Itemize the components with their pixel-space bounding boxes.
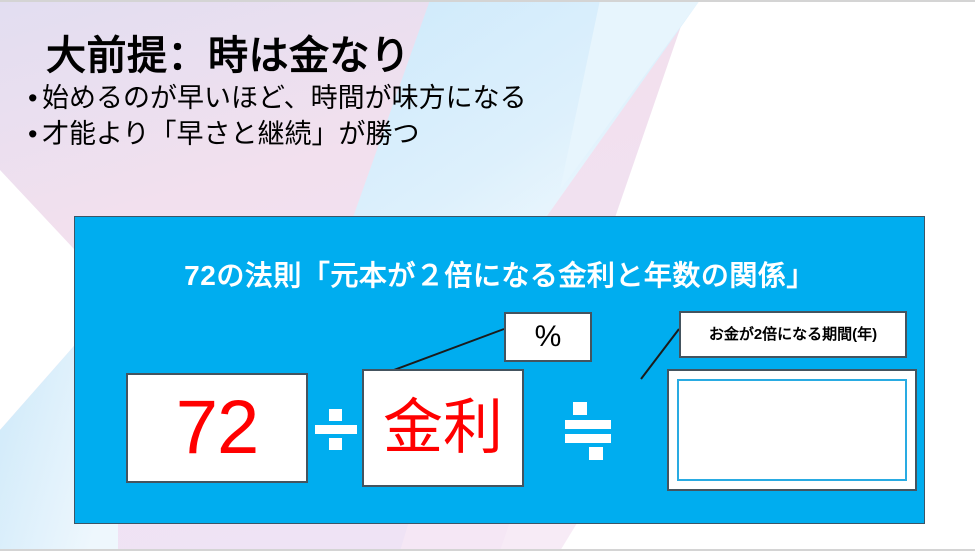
bullet-marker-icon: • (28, 117, 42, 152)
callout-percent-label: % (506, 314, 590, 360)
callout-percent: % (504, 312, 592, 362)
callout-years-label: お金が2倍になる期間(年) (681, 313, 905, 356)
panel-heading: 72の法則「元本が２倍になる金利と年数の関係」 (75, 254, 924, 294)
list-item: • 才能より「早さと継続」が勝つ (28, 117, 700, 152)
page-title: 大前提：時は金なり (46, 34, 700, 79)
divisor-box: 金利 (362, 369, 524, 487)
bullet-text: 始めるのが早いほど、時間が味方になる (42, 81, 527, 116)
numerator-box: 72 (126, 373, 308, 483)
rule-of-72-panel: 72の法則「元本が２倍になる金利と年数の関係」 % お金が2倍になる期間(年) … (74, 216, 925, 524)
headline-block: 大前提：時は金なり • 始めるのが早いほど、時間が味方になる • 才能より「早さ… (0, 34, 700, 153)
approximately-equal-operator-icon (565, 402, 611, 460)
numerator-value: 72 (128, 375, 306, 481)
slide-canvas: 大前提：時は金なり • 始めるのが早いほど、時間が味方になる • 才能より「早さ… (0, 0, 975, 551)
top-divider (0, 0, 975, 2)
result-box[interactable] (667, 369, 917, 491)
result-value[interactable] (677, 379, 907, 481)
bullet-text: 才能より「早さと継続」が勝つ (42, 117, 419, 152)
bullet-marker-icon: • (28, 81, 42, 116)
callout-years: お金が2倍になる期間(年) (679, 311, 907, 358)
divisor-value: 金利 (364, 371, 522, 485)
list-item: • 始めるのが早いほど、時間が味方になる (28, 81, 700, 116)
divide-operator-icon (315, 407, 357, 451)
